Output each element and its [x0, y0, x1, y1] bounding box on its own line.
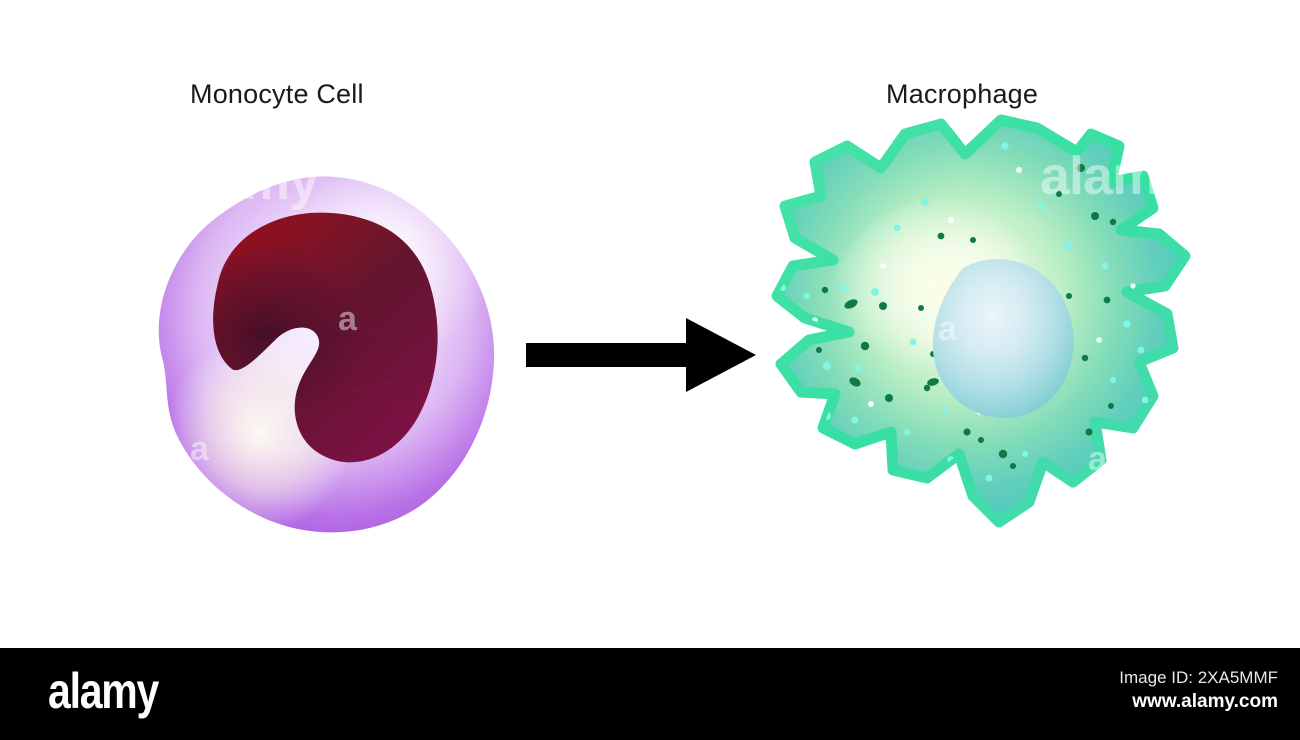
alamy-logo: alamy: [48, 662, 158, 720]
screenshot-root: Monocyte Cell: [0, 0, 1300, 740]
alamy-footer-bar: alamy Image ID: 2XA5MMF www.alamy.com: [0, 648, 1300, 740]
macrophage-cell-illustration: [755, 110, 1215, 590]
figure-area: Monocyte Cell: [0, 0, 1300, 648]
footer-meta: Image ID: 2XA5MMF www.alamy.com: [1119, 666, 1278, 715]
macrophage-title: Macrophage: [886, 79, 1038, 110]
monocyte-cell-illustration: [100, 125, 520, 545]
arrow-shape: [526, 318, 756, 392]
monocyte-title: Monocyte Cell: [190, 79, 364, 110]
transformation-arrow: [520, 310, 765, 400]
image-id-label: Image ID: 2XA5MMF: [1119, 666, 1278, 689]
alamy-url[interactable]: www.alamy.com: [1119, 689, 1278, 715]
